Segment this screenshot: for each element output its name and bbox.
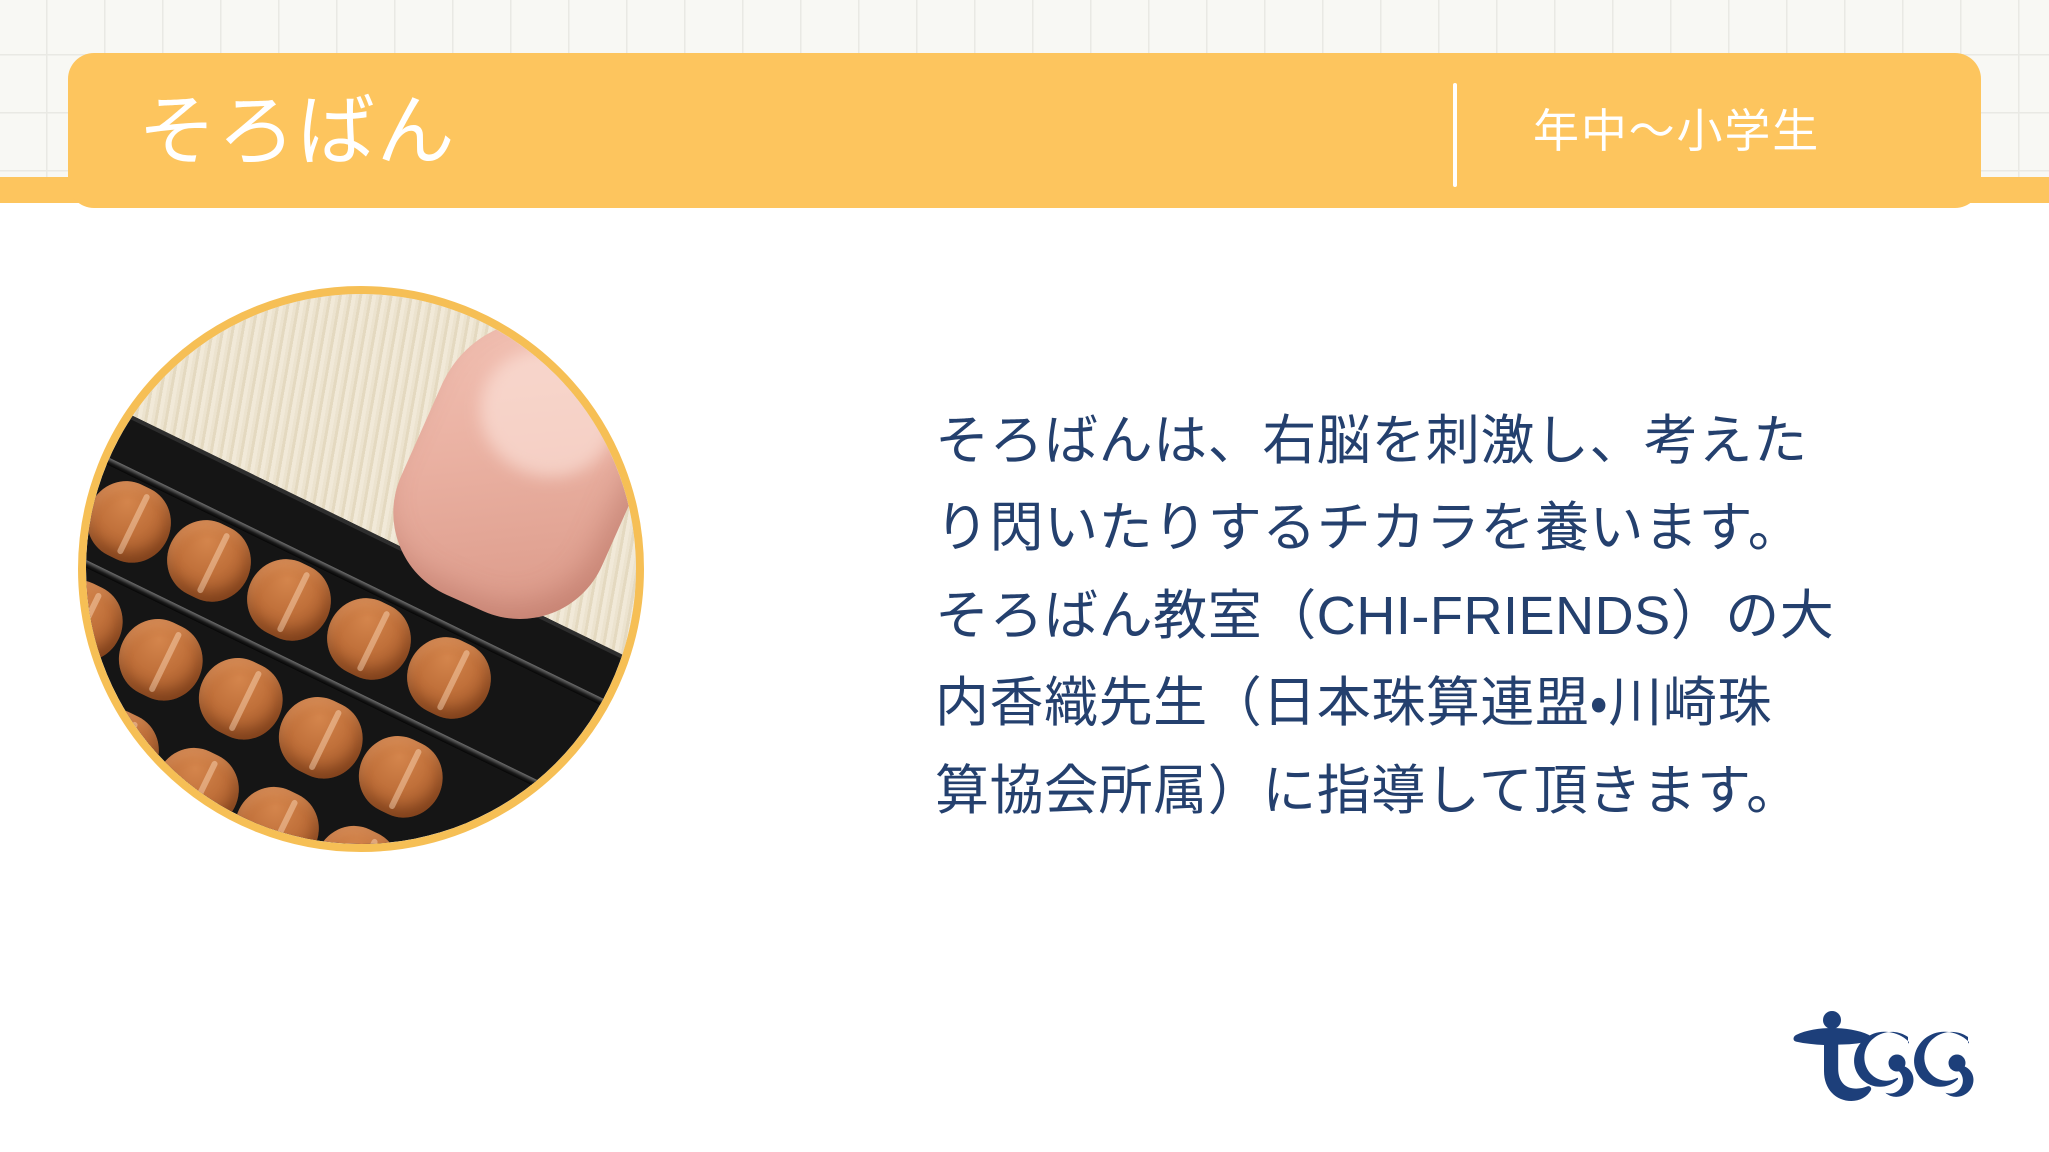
- description-line: 内香織先生（日本珠算連盟・川崎珠: [935, 660, 1945, 747]
- description-line: そろばんは、右脳を刺激し、考えた: [935, 398, 1945, 485]
- description-line: り閃いたりするチカラを養います。: [935, 485, 1945, 572]
- header-bar: そろばん 年中〜小学生: [68, 53, 1981, 208]
- abacus-photo-inner: [86, 294, 636, 844]
- description-line: 算協会所属）に指導して頂きます。: [935, 748, 1945, 835]
- vertical-divider-icon: [1453, 83, 1457, 187]
- tss-brand-logo: [1790, 1007, 1990, 1115]
- abacus-photo: [78, 286, 644, 852]
- description-line: そろばん教室（CHI-FRIENDS）の大: [935, 573, 1945, 660]
- description-text: そろばんは、右脳を刺激し、考えた り閃いたりするチカラを養います。 そろばん教室…: [935, 398, 1945, 835]
- page-title: そろばん: [138, 92, 456, 170]
- target-age-label: 年中〜小学生: [1533, 108, 1820, 154]
- slide-canvas: そろばん 年中〜小学生: [0, 0, 2049, 1152]
